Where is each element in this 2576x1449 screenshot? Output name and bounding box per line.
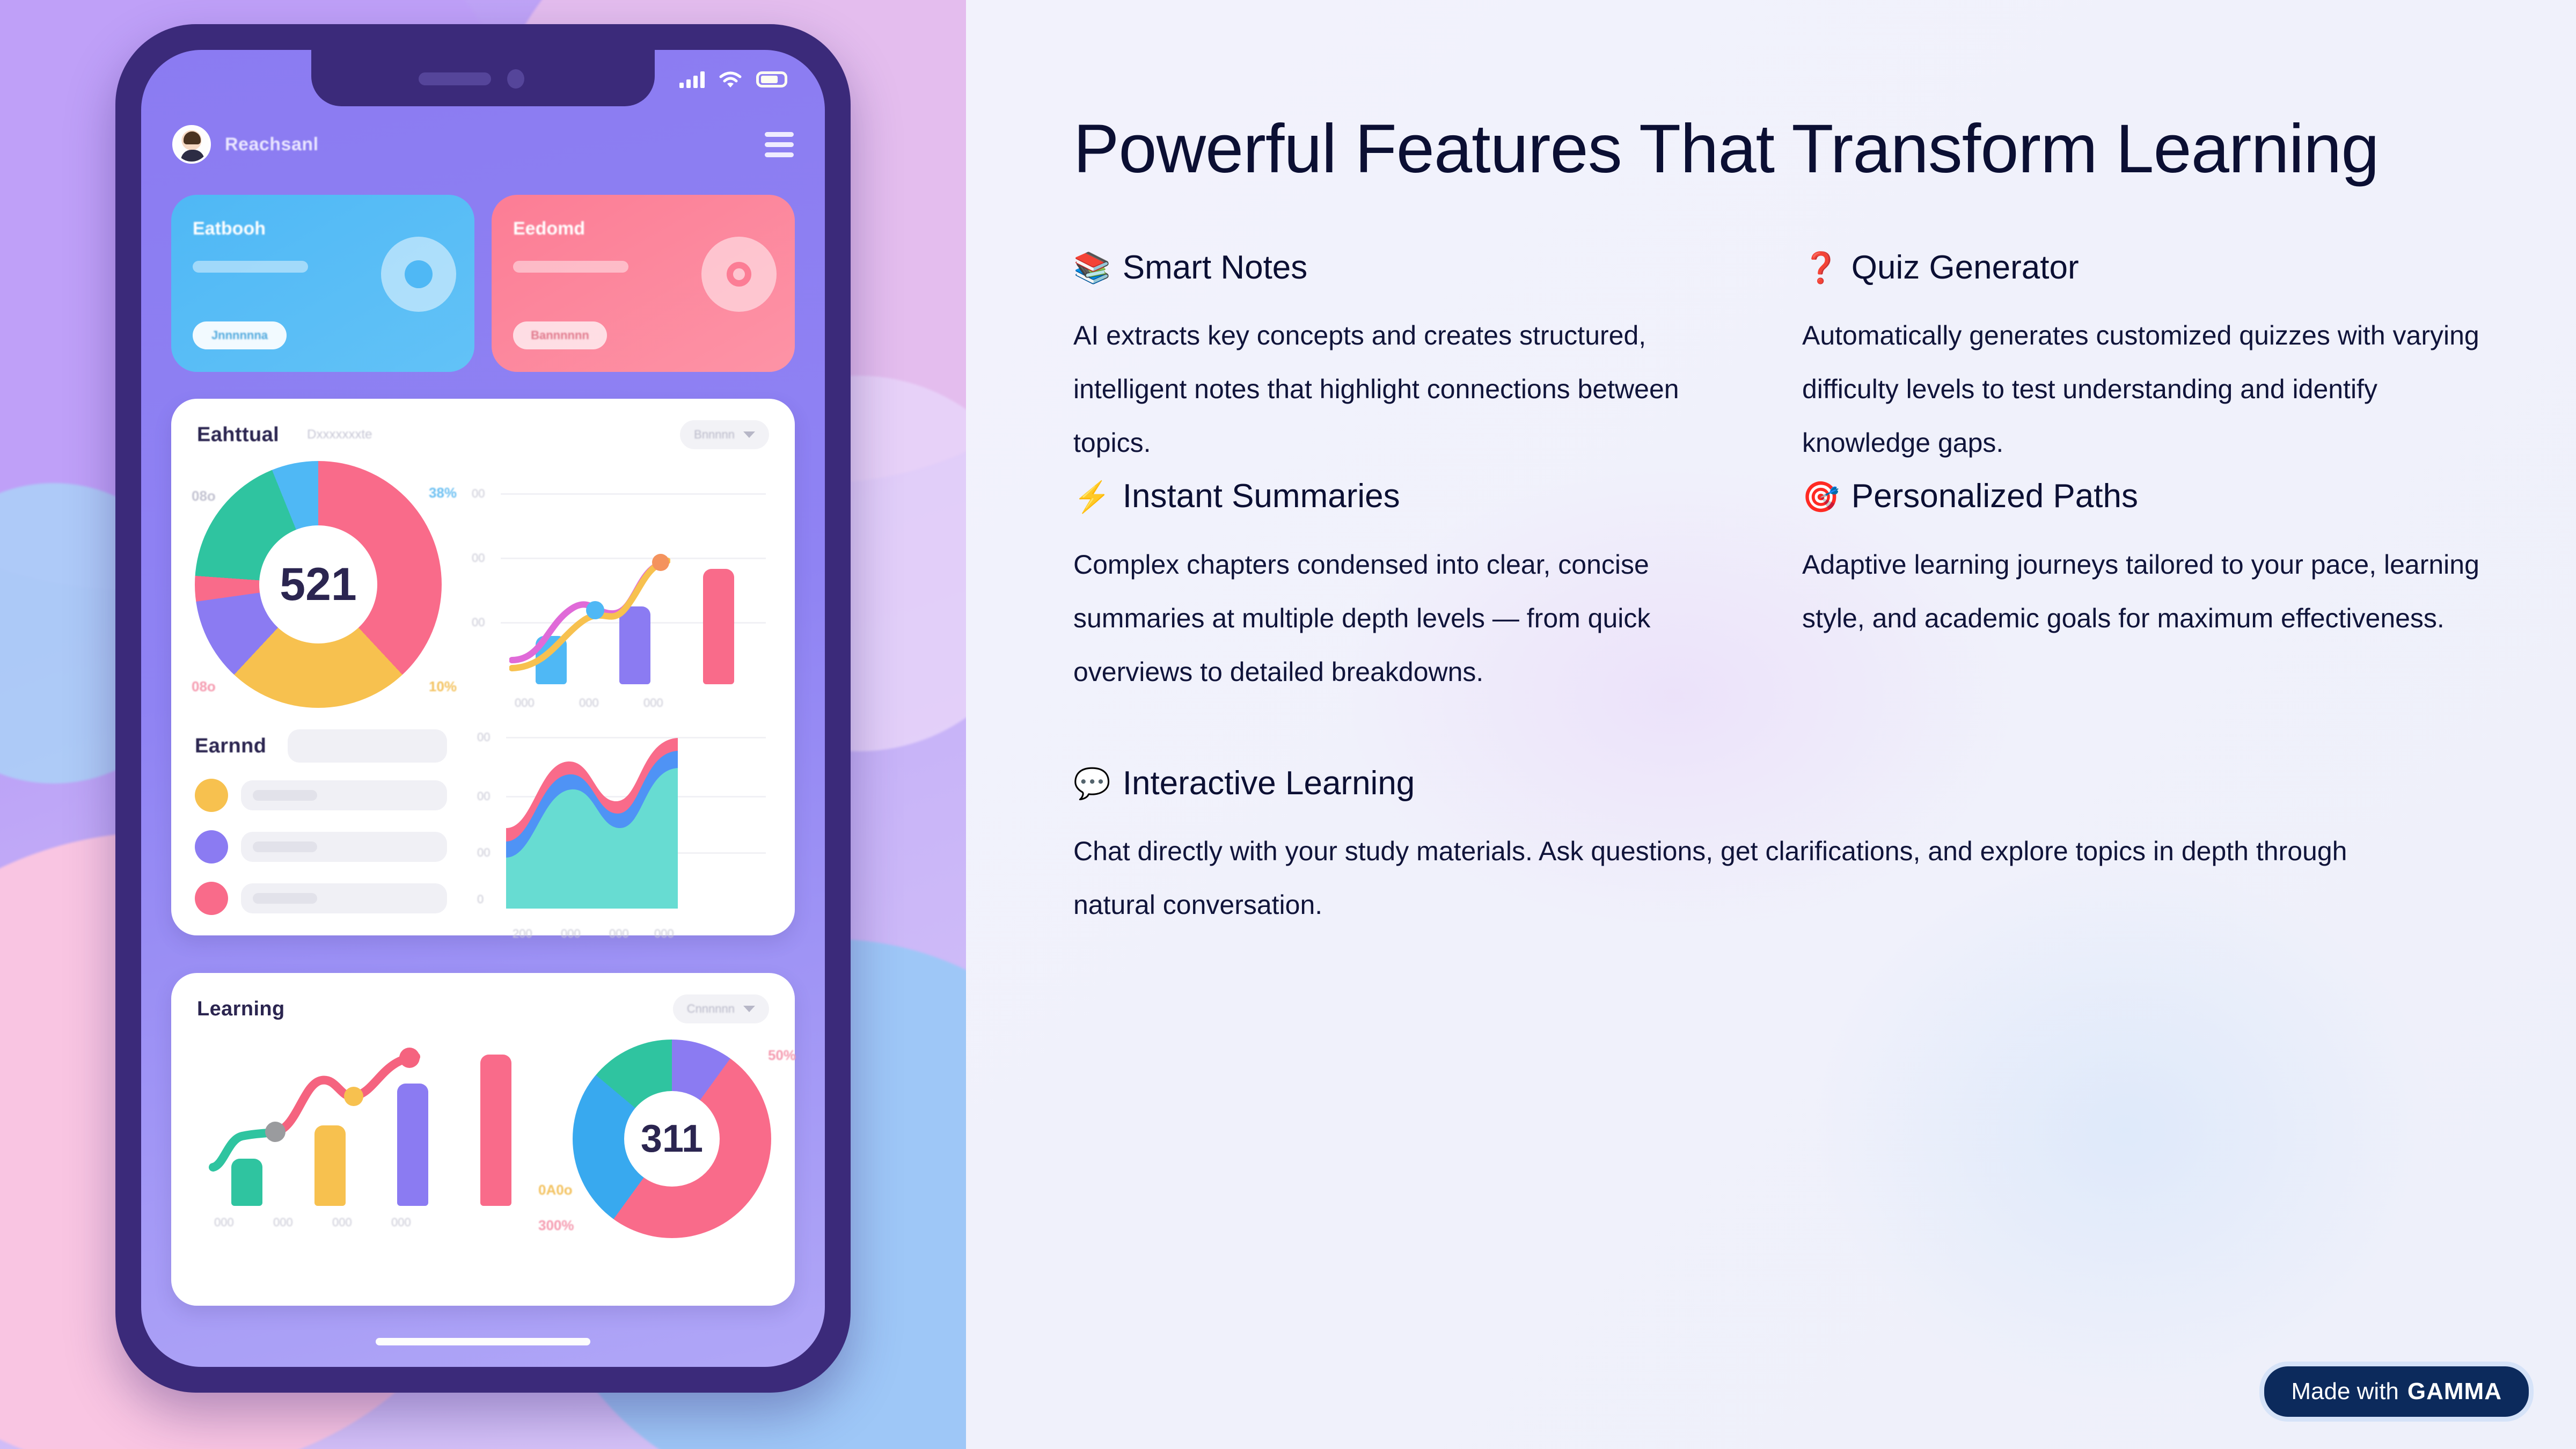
tile-pill-label: Jnnnnnna: [211, 328, 268, 342]
donut-pct-top-right: 50%: [768, 1047, 796, 1064]
feature-quiz-generator: ❓ Quiz Generator Automatically generates…: [1802, 246, 2485, 470]
front-camera-icon: [507, 69, 524, 89]
mini-bar-line-chart: 00 00 00: [456, 461, 771, 708]
learning-chart-row: 000 000 000 000 311 50% 0A0o 300%: [171, 1023, 795, 1243]
status-bar: [679, 70, 787, 89]
list-item[interactable]: [195, 882, 447, 915]
y-tick: 00: [472, 487, 485, 501]
features-grid: 📚 Smart Notes AI extracts key concepts a…: [1073, 246, 2485, 704]
lightning-emoji-icon: ⚡: [1073, 482, 1111, 512]
feature-title: Interactive Learning: [1123, 762, 1415, 806]
bar: [480, 1055, 511, 1206]
signal-bars-icon: [679, 71, 705, 88]
x-tick: 200: [513, 927, 532, 941]
list-item-skeleton: [241, 780, 447, 810]
slide-root: Reachsanl Eatbooh Jnnnnnna Eedomd Ban: [0, 0, 2576, 1449]
bar: [703, 569, 734, 684]
tile-progress-line: [513, 261, 628, 273]
phone-mockup-panel: Reachsanl Eatbooh Jnnnnnna Eedomd Ban: [0, 0, 966, 1449]
tile-progress-line: [193, 261, 308, 273]
feature-title: Instant Summaries: [1123, 475, 1400, 518]
phone-screen: Reachsanl Eatbooh Jnnnnnna Eedomd Ban: [141, 50, 825, 1367]
area-series-group: [506, 726, 678, 909]
list-item-skeleton: [241, 832, 447, 862]
wifi-icon: [719, 70, 742, 89]
list-item[interactable]: [195, 779, 447, 812]
learning-trend-line: [206, 1034, 431, 1206]
speech-balloon-emoji-icon: 💬: [1073, 769, 1111, 799]
feature-description: Complex chapters condensed into clear, c…: [1073, 538, 1756, 699]
y-tick: 00: [477, 846, 490, 860]
x-tick: 000: [654, 927, 674, 941]
tile-title: Eedomd: [513, 218, 773, 239]
y-tick: 0: [477, 892, 484, 906]
person-glyph-icon: [405, 260, 433, 288]
x-tick: 000: [332, 1216, 352, 1230]
page-title: Powerful Features That Transform Learnin…: [1073, 102, 2415, 197]
y-tick: 00: [477, 789, 490, 803]
badge-brand: GAMMA: [2407, 1378, 2502, 1405]
earpiece-speaker: [419, 72, 491, 85]
stacked-area-chart: 00 00 00 0 200 000 000: [461, 715, 771, 933]
feature-title: Personalized Paths: [1851, 475, 2138, 518]
feature-description: AI extracts key concepts and creates str…: [1073, 309, 1756, 470]
y-tick: 00: [472, 551, 485, 565]
tile-card-blue[interactable]: Eatbooh Jnnnnnna: [171, 195, 474, 372]
features-left-column: 📚 Smart Notes AI extracts key concepts a…: [1073, 246, 1756, 704]
donut-center-value: 311: [573, 1040, 771, 1238]
x-tick: 000: [643, 696, 663, 710]
analytics-chart-row: 521 08o 38% 08o 10% 00 00 00: [171, 449, 795, 708]
list-area-row: Earnnd: [171, 708, 795, 933]
dashboard-card-learning: Learning Cnnnnnn: [171, 973, 795, 1306]
app-header: Reachsanl: [172, 125, 794, 164]
donut-center-value: 521: [195, 461, 442, 708]
trend-line-overlay: [509, 545, 670, 684]
card-dropdown-label: Bnnnnn: [694, 428, 735, 442]
app-user-label: Reachsanl: [225, 134, 319, 155]
donut-pct-bottom-left-2: 300%: [538, 1217, 574, 1234]
feature-personalized-paths: 🎯 Personalized Paths Adaptive learning j…: [1802, 475, 2485, 645]
x-tick: 000: [561, 927, 581, 941]
phone-device-frame: Reachsanl Eatbooh Jnnnnnna Eedomd Ban: [115, 24, 851, 1393]
card-dropdown-label: Cnnnnnn: [687, 1002, 735, 1016]
target-emoji-icon: 🎯: [1802, 482, 1840, 512]
feature-title: Smart Notes: [1123, 246, 1308, 290]
x-tick: 000: [515, 696, 535, 710]
phone-notch: [311, 50, 655, 106]
feature-description: Adaptive learning journeys tailored to y…: [1802, 538, 2485, 645]
summary-tiles: Eatbooh Jnnnnnna Eedomd Bannnnnn: [171, 195, 795, 372]
feature-interactive-learning: 💬 Interactive Learning Chat directly wit…: [1073, 762, 2485, 932]
y-tick: 00: [472, 616, 485, 630]
x-tick: 000: [391, 1216, 411, 1230]
tile-orb-pink: [701, 237, 777, 312]
content-panel: Powerful Features That Transform Learnin…: [966, 0, 2576, 1449]
card-dropdown[interactable]: Cnnnnnn: [673, 994, 769, 1023]
list-item-skeleton: [241, 883, 447, 913]
badge-prefix: Made with: [2291, 1378, 2399, 1405]
dashboard-card-analytics: Eahttual Dxxxxxxxte Bnnnnn 521 08o 38%: [171, 399, 795, 935]
tile-card-pink[interactable]: Eedomd Bannnnnn: [492, 195, 795, 372]
gridline: [501, 493, 766, 495]
tile-title: Eatbooh: [193, 218, 453, 239]
learning-bar-chart: 000 000 000 000: [195, 1029, 559, 1243]
x-tick: 000: [579, 696, 599, 710]
x-tick: 000: [273, 1216, 293, 1230]
x-tick: 000: [609, 927, 629, 941]
list-title-skeleton: [288, 729, 447, 763]
card-header: Learning Cnnnnnn: [171, 973, 795, 1023]
home-indicator: [376, 1338, 590, 1345]
card-subtitle: Dxxxxxxxte: [307, 427, 372, 442]
list-title: Earnnd: [195, 735, 266, 758]
chevron-down-icon: [743, 431, 755, 438]
chevron-down-icon: [743, 1006, 755, 1012]
tile-pill-pink[interactable]: Bannnnnn: [513, 321, 607, 349]
feature-description: Automatically generates customized quizz…: [1802, 309, 2485, 470]
card-header: Eahttual Dxxxxxxxte Bnnnnn: [171, 399, 795, 449]
x-tick: 000: [214, 1216, 234, 1230]
features-right-column: ❓ Quiz Generator Automatically generates…: [1802, 246, 2485, 704]
hamburger-menu-icon[interactable]: [765, 132, 794, 157]
made-with-gamma-badge[interactable]: Made with GAMMA: [2264, 1366, 2529, 1417]
feature-title: Quiz Generator: [1851, 246, 2079, 290]
donut-chart-311: 311 50% 0A0o 300%: [573, 1040, 771, 1238]
list-item[interactable]: [195, 830, 447, 863]
avatar: [172, 125, 211, 164]
ring-glyph-icon: [727, 262, 751, 287]
battery-icon: [756, 71, 787, 87]
feature-heading: 📚 Smart Notes: [1073, 246, 1756, 290]
list-item-avatar: [195, 830, 228, 863]
card-title: Learning: [197, 998, 285, 1021]
feature-heading: 🎯 Personalized Paths: [1802, 475, 2485, 518]
activity-list: Earnnd: [195, 715, 447, 933]
list-item-avatar: [195, 779, 228, 812]
card-dropdown[interactable]: Bnnnnn: [680, 420, 769, 449]
feature-smart-notes: 📚 Smart Notes AI extracts key concepts a…: [1073, 246, 1756, 470]
donut-chart-521: 521 08o 38% 08o 10%: [195, 461, 442, 708]
feature-heading: 💬 Interactive Learning: [1073, 762, 2485, 806]
tile-pill-blue[interactable]: Jnnnnnna: [193, 321, 287, 349]
feature-description: Chat directly with your study materials.…: [1073, 824, 2361, 932]
feature-heading: ⚡ Instant Summaries: [1073, 475, 1756, 518]
tile-pill-label: Bannnnnn: [531, 328, 589, 342]
y-tick: 00: [477, 730, 490, 744]
tile-orb-blue: [381, 237, 456, 312]
donut-pct-bottom-left: 0A0o: [538, 1182, 573, 1198]
feature-heading: ❓ Quiz Generator: [1802, 246, 2485, 290]
feature-instant-summaries: ⚡ Instant Summaries Complex chapters con…: [1073, 475, 1756, 699]
books-emoji-icon: 📚: [1073, 253, 1111, 283]
question-mark-emoji-icon: ❓: [1802, 253, 1840, 283]
list-item-avatar: [195, 882, 228, 915]
card-title: Eahttual: [197, 423, 279, 447]
